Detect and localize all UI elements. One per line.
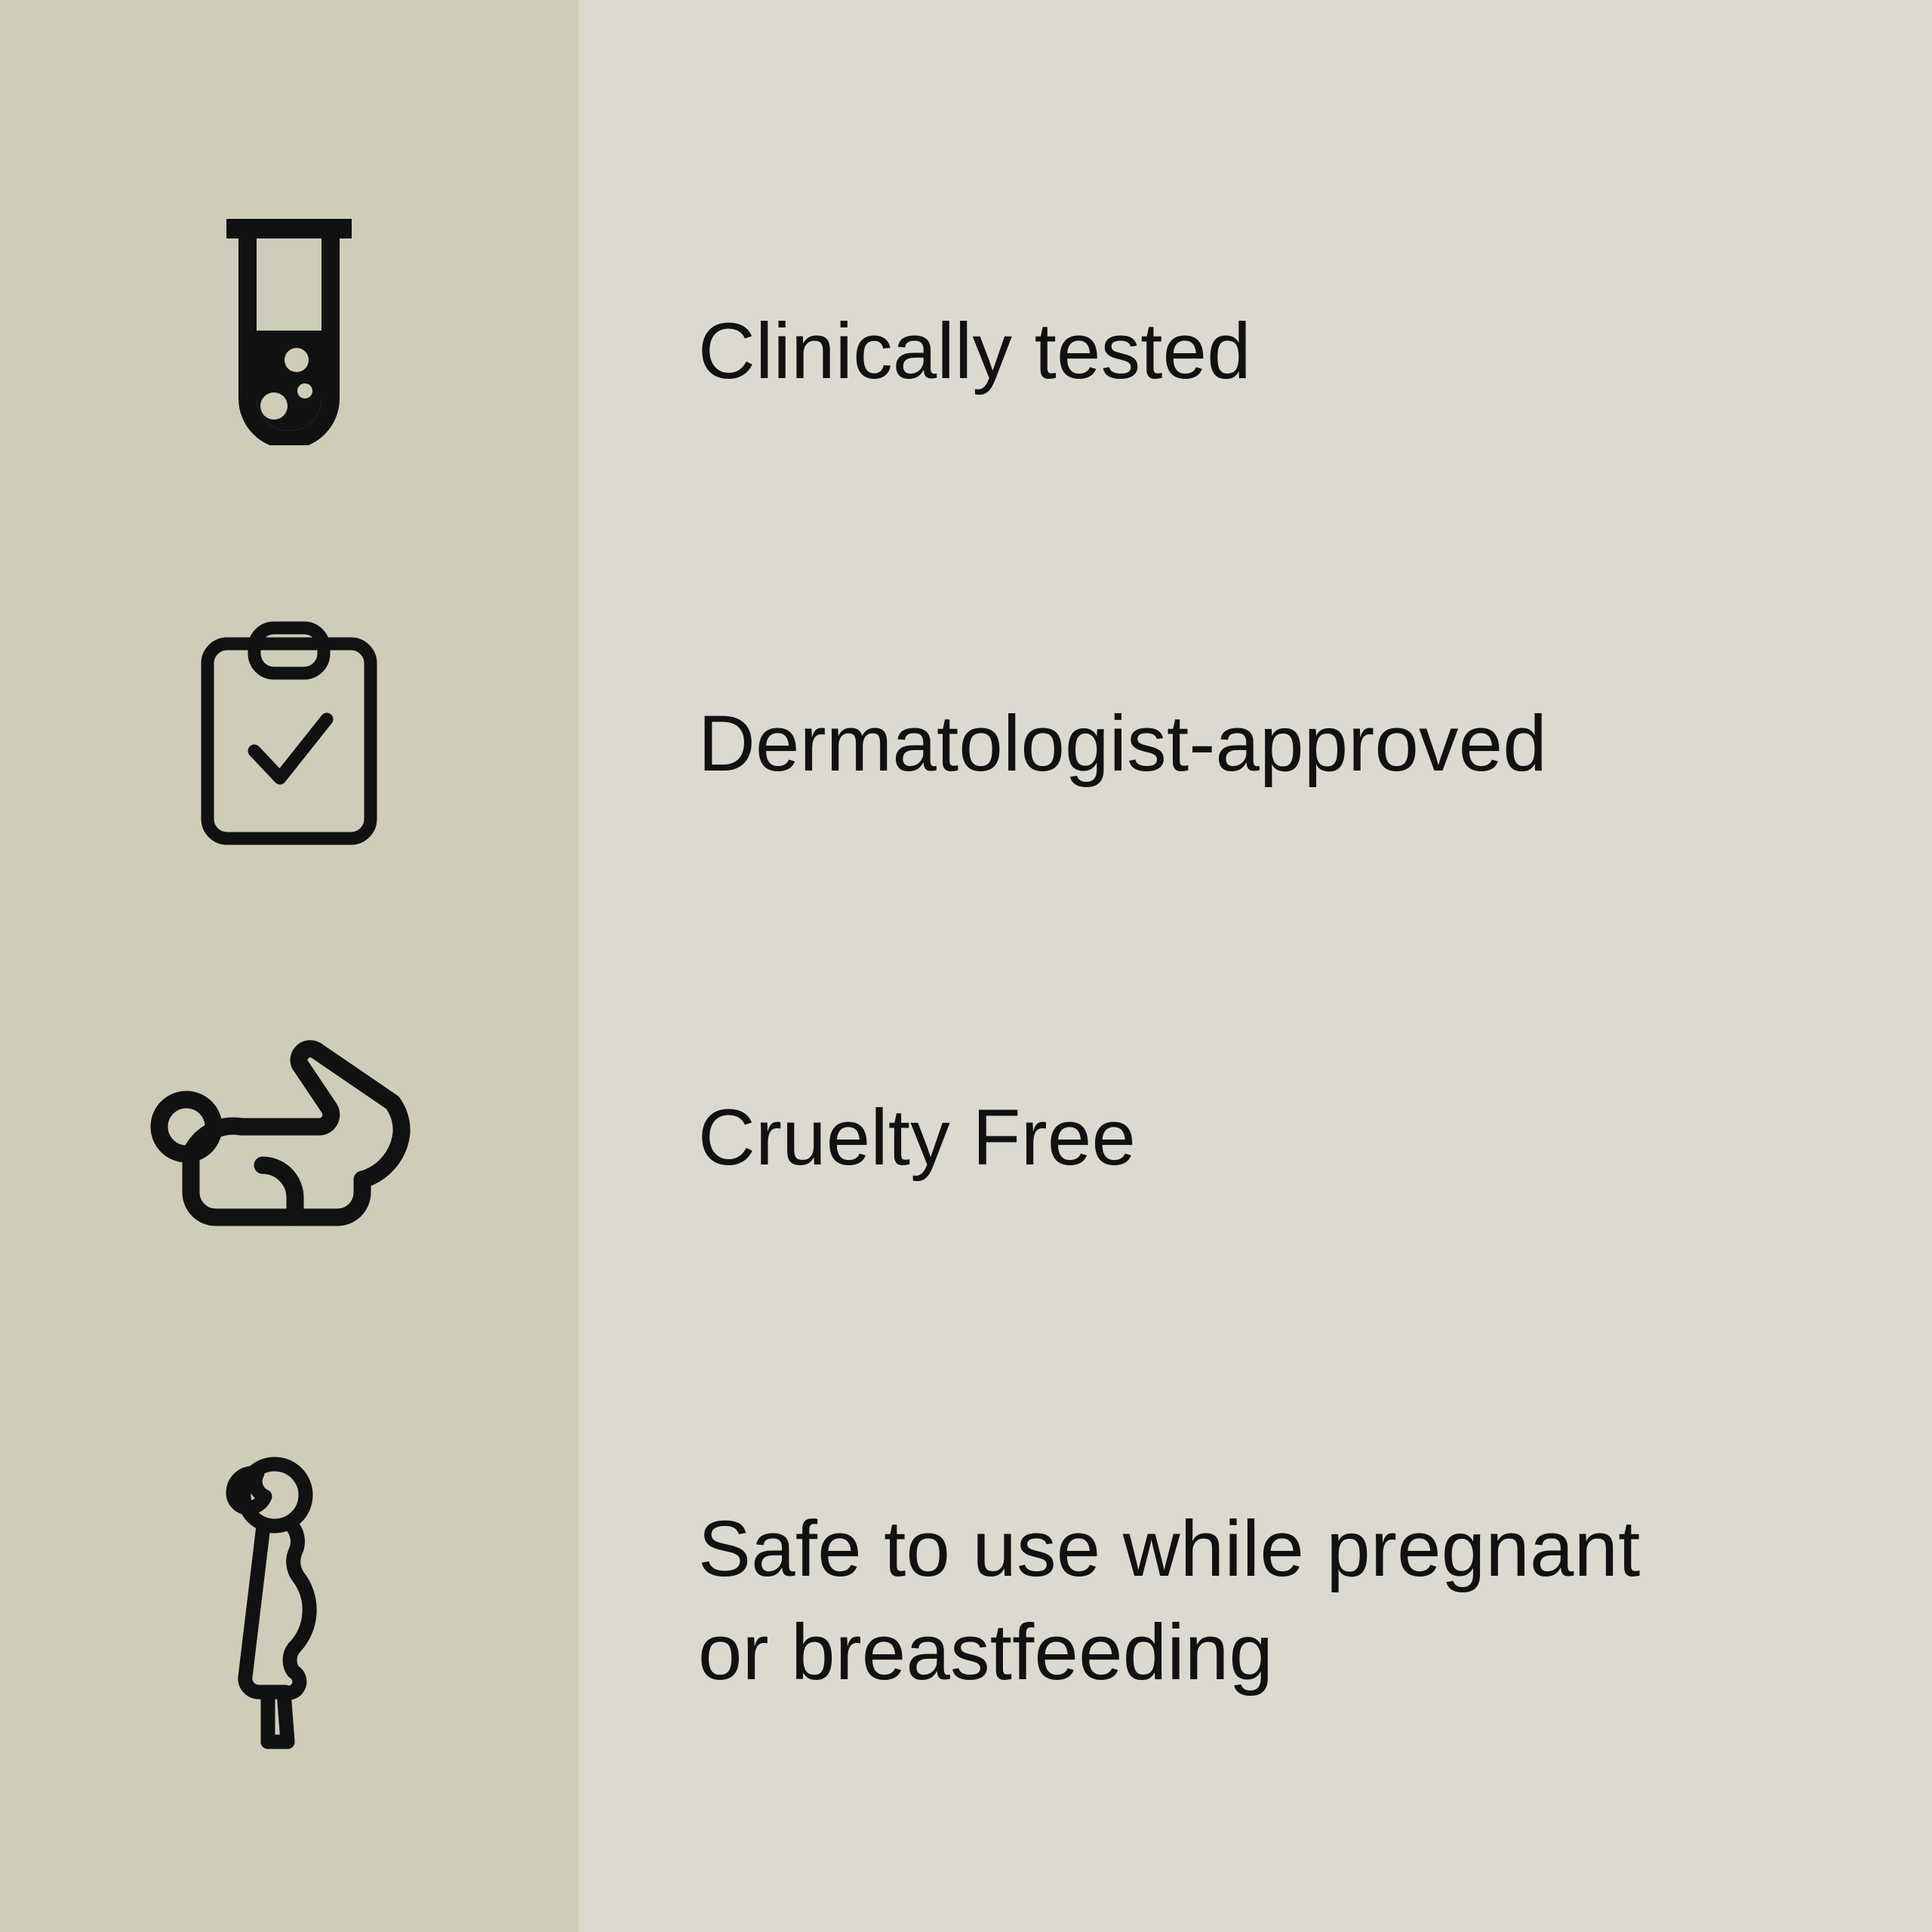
benefit-label: Clinically tested	[698, 300, 1830, 404]
pregnant-woman-icon	[220, 1457, 358, 1755]
icon-cell	[0, 1038, 578, 1234]
clipboard-check-icon	[198, 621, 380, 848]
benefit-label: Dermatologist-approved	[698, 693, 1830, 796]
rabbit-icon	[149, 1038, 429, 1234]
icon-cell	[0, 617, 578, 851]
benefit-label: Cruelty Free	[698, 1087, 1830, 1190]
icon-cell	[0, 219, 578, 445]
benefit-label: Safe to use while pregnant or breastfeed…	[698, 1498, 1830, 1704]
benefits-panel: Clinically tested Dermatologist-approved	[0, 0, 1932, 1932]
icon-cell	[0, 1457, 578, 1755]
test-tube-icon	[222, 219, 356, 445]
